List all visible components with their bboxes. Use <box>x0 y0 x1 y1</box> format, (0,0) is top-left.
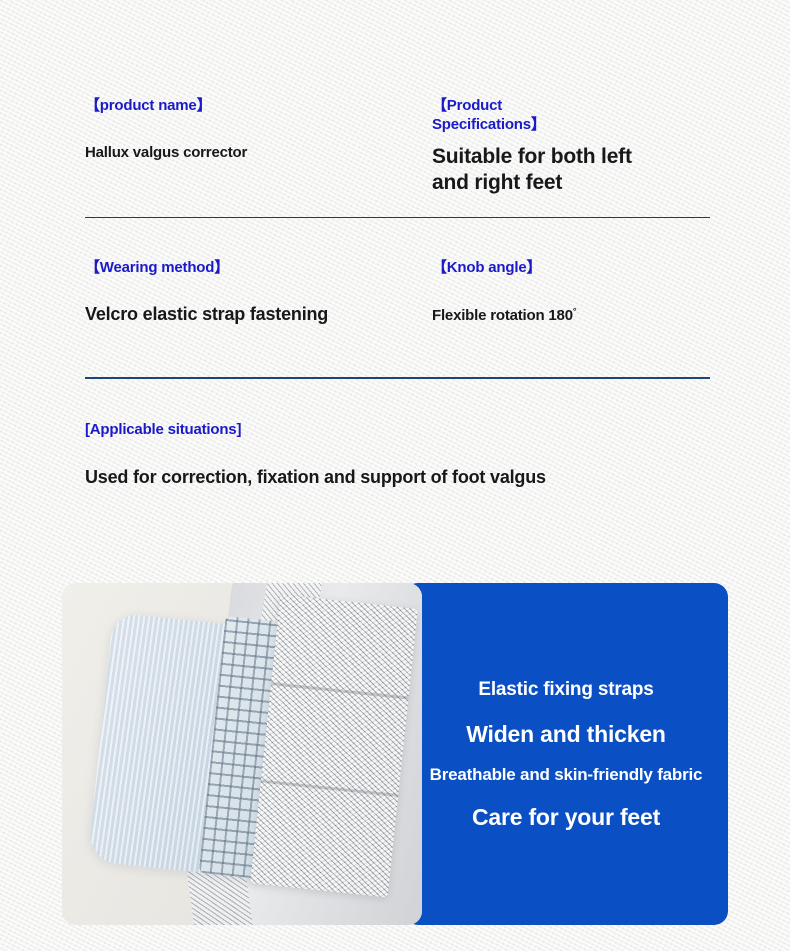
spec-item-applicable-situations: [Applicable situations] Used for correct… <box>85 420 546 489</box>
product-photo <box>62 583 422 925</box>
divider-1 <box>85 217 710 218</box>
feature-line-3: Breathable and skin-friendly fabric <box>422 763 710 786</box>
spec-value-product-specifications: Suitable for both left and right feet <box>432 144 667 196</box>
spec-item-product-name: 【product name】 Hallux valgus corrector <box>85 96 247 164</box>
product-detail-page: 【product name】 Hallux valgus corrector 【… <box>0 0 790 951</box>
spec-item-wearing-method: 【Wearing method】 Velcro elastic strap fa… <box>85 258 328 326</box>
spec-label-product-name: 【product name】 <box>85 96 247 115</box>
spec-label-applicable-situations: [Applicable situations] <box>85 420 546 439</box>
feature-line-2: Widen and thicken <box>422 719 710 749</box>
spec-item-product-specifications: 【Product Specifications】 Suitable for bo… <box>432 96 667 196</box>
feature-text-panel: Elastic fixing straps Widen and thicken … <box>404 583 728 925</box>
spec-value-product-name: Hallux valgus corrector <box>85 142 247 164</box>
degree-symbol: ° <box>573 306 577 316</box>
spec-label-knob-angle: 【Knob angle】 <box>432 258 576 277</box>
feature-line-1: Elastic fixing straps <box>422 677 710 703</box>
spec-label-product-specifications: 【Product Specifications】 <box>432 96 552 134</box>
mesh-seam-upper <box>271 682 409 699</box>
feature-card: Elastic fixing straps Widen and thicken … <box>62 583 728 925</box>
knob-angle-text: Flexible rotation 180 <box>432 307 573 324</box>
spec-value-applicable-situations: Used for correction, fixation and suppor… <box>85 465 546 489</box>
mesh-seam-lower <box>261 780 399 797</box>
spec-item-knob-angle: 【Knob angle】 Flexible rotation 180° <box>432 258 576 327</box>
feature-line-4: Care for your feet <box>422 802 710 832</box>
spec-label-wearing-method: 【Wearing method】 <box>85 258 328 277</box>
spec-value-wearing-method: Velcro elastic strap fastening <box>85 302 328 326</box>
divider-2 <box>85 377 710 379</box>
spec-value-knob-angle: Flexible rotation 180° <box>432 305 576 327</box>
